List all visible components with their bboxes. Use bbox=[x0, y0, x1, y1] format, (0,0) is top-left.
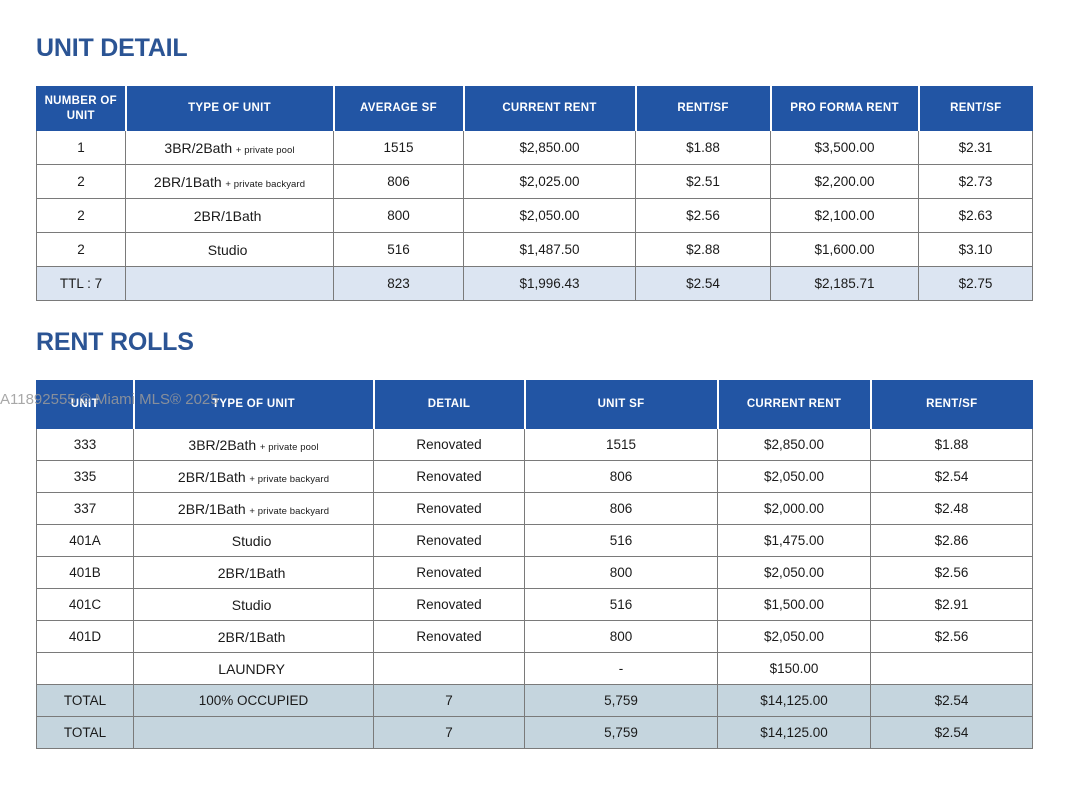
cell-current-rent: $150.00 bbox=[718, 653, 871, 685]
cell-unit: 401B bbox=[37, 557, 134, 589]
table-total-row: TOTAL 100% OCCUPIED 7 5,759 $14,125.00 $… bbox=[37, 685, 1033, 717]
rent-rolls-table: UNIT TYPE OF UNIT DETAIL UNIT SF CURRENT… bbox=[36, 380, 1033, 749]
cell-current-rent: $1,996.43 bbox=[464, 267, 636, 301]
type-main-text: 3BR/2Bath bbox=[188, 437, 256, 453]
type-main-text: 2BR/1Bath bbox=[178, 469, 246, 485]
type-main-text: 3BR/2Bath bbox=[164, 140, 232, 156]
cell-detail: Renovated bbox=[374, 493, 525, 525]
cell-current-rent: $2,850.00 bbox=[464, 131, 636, 165]
type-sub-text: + private pool bbox=[260, 442, 319, 453]
cell-rent-sf: $2.56 bbox=[871, 621, 1033, 653]
rent-rolls-table-body: 333 3BR/2Bath + private pool Renovated 1… bbox=[37, 429, 1033, 749]
cell-number-of-unit: 2 bbox=[37, 165, 126, 199]
cell-type-of-unit: Studio bbox=[134, 525, 374, 557]
rent-rolls-table-header: UNIT TYPE OF UNIT DETAIL UNIT SF CURRENT… bbox=[37, 381, 1033, 429]
column-header-type-of-unit: TYPE OF UNIT bbox=[126, 87, 334, 131]
cell-unit: 335 bbox=[37, 461, 134, 493]
cell-pro-forma-rent-sf: $3.10 bbox=[919, 233, 1033, 267]
cell-average-sf: 823 bbox=[334, 267, 464, 301]
cell-pro-forma-rent: $2,200.00 bbox=[771, 165, 919, 199]
unit-detail-table-header: NUMBER OF UNIT TYPE OF UNIT AVERAGE SF C… bbox=[37, 87, 1033, 131]
cell-current-rent: $2,050.00 bbox=[718, 461, 871, 493]
type-main-text: Studio bbox=[232, 533, 272, 549]
cell-type-of-unit: 2BR/1Bath + private backyard bbox=[134, 461, 374, 493]
cell-detail bbox=[374, 653, 525, 685]
document-page: UNIT DETAIL NUMBER OF UNIT TYPE OF UNIT … bbox=[0, 0, 1069, 801]
cell-rent-sf: $2.54 bbox=[871, 685, 1033, 717]
cell-type-of-unit: 3BR/2Bath + private pool bbox=[126, 131, 334, 165]
cell-unit-sf: 5,759 bbox=[525, 717, 718, 749]
cell-current-rent: $2,850.00 bbox=[718, 429, 871, 461]
cell-pro-forma-rent-sf: $2.73 bbox=[919, 165, 1033, 199]
cell-pro-forma-rent-sf: $2.75 bbox=[919, 267, 1033, 301]
cell-occupancy bbox=[134, 717, 374, 749]
cell-current-rent: $14,125.00 bbox=[718, 685, 871, 717]
type-main-text: 2BR/1Bath bbox=[218, 629, 286, 645]
table-row: 333 3BR/2Bath + private pool Renovated 1… bbox=[37, 429, 1033, 461]
cell-number-of-unit: 2 bbox=[37, 233, 126, 267]
cell-type-of-unit: LAUNDRY bbox=[134, 653, 374, 685]
column-header-unit: UNIT bbox=[37, 381, 134, 429]
cell-unit: 401A bbox=[37, 525, 134, 557]
table-row: 337 2BR/1Bath + private backyard Renovat… bbox=[37, 493, 1033, 525]
type-sub-text: + private backyard bbox=[249, 474, 329, 485]
cell-rent-sf: $2.54 bbox=[871, 717, 1033, 749]
column-header-current-rent: CURRENT RENT bbox=[464, 87, 636, 131]
table-row: LAUNDRY - $150.00 bbox=[37, 653, 1033, 685]
cell-occupancy: 100% OCCUPIED bbox=[134, 685, 374, 717]
cell-current-rent: $2,000.00 bbox=[718, 493, 871, 525]
cell-current-rent: $14,125.00 bbox=[718, 717, 871, 749]
type-main-text: LAUNDRY bbox=[218, 661, 285, 677]
cell-type-of-unit: 3BR/2Bath + private pool bbox=[134, 429, 374, 461]
type-sub-text: + private pool bbox=[236, 145, 295, 156]
cell-rent-sf: $2.48 bbox=[871, 493, 1033, 525]
cell-average-sf: 1515 bbox=[334, 131, 464, 165]
type-main-text: 2BR/1Bath bbox=[218, 565, 286, 581]
cell-unit-sf: 516 bbox=[525, 589, 718, 621]
table-row: 401C Studio Renovated 516 $1,500.00 $2.9… bbox=[37, 589, 1033, 621]
table-row: 401D 2BR/1Bath Renovated 800 $2,050.00 $… bbox=[37, 621, 1033, 653]
cell-average-sf: 516 bbox=[334, 233, 464, 267]
cell-unit: 337 bbox=[37, 493, 134, 525]
cell-unit bbox=[37, 653, 134, 685]
cell-average-sf: 806 bbox=[334, 165, 464, 199]
cell-detail: Renovated bbox=[374, 525, 525, 557]
cell-detail: Renovated bbox=[374, 429, 525, 461]
column-header-current-rent: CURRENT RENT bbox=[718, 381, 871, 429]
column-header-pro-forma-rent-sf: RENT/SF bbox=[919, 87, 1033, 131]
table-total-row: TTL : 7 823 $1,996.43 $2.54 $2,185.71 $2… bbox=[37, 267, 1033, 301]
cell-current-rent: $1,475.00 bbox=[718, 525, 871, 557]
cell-number-of-unit: 1 bbox=[37, 131, 126, 165]
cell-pro-forma-rent-sf: $2.31 bbox=[919, 131, 1033, 165]
table-header-row: UNIT TYPE OF UNIT DETAIL UNIT SF CURRENT… bbox=[37, 381, 1033, 429]
cell-current-rent: $1,487.50 bbox=[464, 233, 636, 267]
type-sub-text: + private backyard bbox=[225, 179, 305, 190]
table-row: 401A Studio Renovated 516 $1,475.00 $2.8… bbox=[37, 525, 1033, 557]
cell-average-sf: 800 bbox=[334, 199, 464, 233]
cell-pro-forma-rent: $1,600.00 bbox=[771, 233, 919, 267]
cell-unit-sf: - bbox=[525, 653, 718, 685]
cell-rent-sf: $1.88 bbox=[636, 131, 771, 165]
cell-type-of-unit: Studio bbox=[134, 589, 374, 621]
cell-rent-sf: $2.88 bbox=[636, 233, 771, 267]
cell-rent-sf: $2.54 bbox=[636, 267, 771, 301]
cell-detail: 7 bbox=[374, 685, 525, 717]
cell-detail: Renovated bbox=[374, 589, 525, 621]
cell-type-of-unit: 2BR/1Bath + private backyard bbox=[134, 493, 374, 525]
cell-type-of-unit: 2BR/1Bath bbox=[134, 557, 374, 589]
cell-unit-sf: 516 bbox=[525, 525, 718, 557]
cell-pro-forma-rent-sf: $2.63 bbox=[919, 199, 1033, 233]
cell-detail: 7 bbox=[374, 717, 525, 749]
type-sub-text: + private backyard bbox=[249, 506, 329, 517]
cell-rent-sf: $2.86 bbox=[871, 525, 1033, 557]
cell-current-rent: $2,025.00 bbox=[464, 165, 636, 199]
cell-unit-sf: 800 bbox=[525, 621, 718, 653]
cell-rent-sf: $2.51 bbox=[636, 165, 771, 199]
column-header-rent-sf: RENT/SF bbox=[636, 87, 771, 131]
table-row: 1 3BR/2Bath + private pool 1515 $2,850.0… bbox=[37, 131, 1033, 165]
table-row: 2 2BR/1Bath + private backyard 806 $2,02… bbox=[37, 165, 1033, 199]
unit-detail-section-title: UNIT DETAIL bbox=[36, 36, 188, 61]
cell-total-label: TOTAL bbox=[37, 717, 134, 749]
cell-type-of-unit: 2BR/1Bath bbox=[134, 621, 374, 653]
unit-detail-table-body: 1 3BR/2Bath + private pool 1515 $2,850.0… bbox=[37, 131, 1033, 301]
cell-rent-sf: $2.56 bbox=[871, 557, 1033, 589]
cell-current-rent: $2,050.00 bbox=[718, 557, 871, 589]
cell-total-label: TTL : 7 bbox=[37, 267, 126, 301]
cell-detail: Renovated bbox=[374, 461, 525, 493]
cell-current-rent: $1,500.00 bbox=[718, 589, 871, 621]
cell-unit: 401D bbox=[37, 621, 134, 653]
cell-detail: Renovated bbox=[374, 557, 525, 589]
cell-current-rent: $2,050.00 bbox=[718, 621, 871, 653]
table-row: 335 2BR/1Bath + private backyard Renovat… bbox=[37, 461, 1033, 493]
column-header-detail: DETAIL bbox=[374, 381, 525, 429]
cell-pro-forma-rent: $3,500.00 bbox=[771, 131, 919, 165]
table-row: 2 2BR/1Bath 800 $2,050.00 $2.56 $2,100.0… bbox=[37, 199, 1033, 233]
cell-pro-forma-rent: $2,185.71 bbox=[771, 267, 919, 301]
table-total-row: TOTAL 7 5,759 $14,125.00 $2.54 bbox=[37, 717, 1033, 749]
cell-type-of-unit bbox=[126, 267, 334, 301]
type-main-text: 2BR/1Bath bbox=[194, 208, 262, 224]
cell-detail: Renovated bbox=[374, 621, 525, 653]
type-main-text: Studio bbox=[232, 597, 272, 613]
cell-unit-sf: 806 bbox=[525, 493, 718, 525]
cell-pro-forma-rent: $2,100.00 bbox=[771, 199, 919, 233]
cell-unit: 333 bbox=[37, 429, 134, 461]
column-header-unit-sf: UNIT SF bbox=[525, 381, 718, 429]
cell-unit-sf: 1515 bbox=[525, 429, 718, 461]
rent-rolls-section-title: RENT ROLLS bbox=[36, 330, 194, 355]
type-main-text: 2BR/1Bath bbox=[154, 174, 222, 190]
cell-rent-sf bbox=[871, 653, 1033, 685]
unit-detail-table: NUMBER OF UNIT TYPE OF UNIT AVERAGE SF C… bbox=[36, 86, 1033, 301]
cell-unit-sf: 800 bbox=[525, 557, 718, 589]
type-main-text: 2BR/1Bath bbox=[178, 501, 246, 517]
column-header-pro-forma-rent: PRO FORMA RENT bbox=[771, 87, 919, 131]
cell-unit: 401C bbox=[37, 589, 134, 621]
table-row: 401B 2BR/1Bath Renovated 800 $2,050.00 $… bbox=[37, 557, 1033, 589]
cell-type-of-unit: 2BR/1Bath bbox=[126, 199, 334, 233]
type-main-text: Studio bbox=[208, 242, 248, 258]
cell-rent-sf: $1.88 bbox=[871, 429, 1033, 461]
column-header-number-of-unit: NUMBER OF UNIT bbox=[37, 87, 126, 131]
column-header-type-of-unit: TYPE OF UNIT bbox=[134, 381, 374, 429]
cell-current-rent: $2,050.00 bbox=[464, 199, 636, 233]
cell-unit-sf: 806 bbox=[525, 461, 718, 493]
table-header-row: NUMBER OF UNIT TYPE OF UNIT AVERAGE SF C… bbox=[37, 87, 1033, 131]
cell-rent-sf: $2.56 bbox=[636, 199, 771, 233]
cell-type-of-unit: 2BR/1Bath + private backyard bbox=[126, 165, 334, 199]
cell-rent-sf: $2.91 bbox=[871, 589, 1033, 621]
cell-type-of-unit: Studio bbox=[126, 233, 334, 267]
column-header-rent-sf: RENT/SF bbox=[871, 381, 1033, 429]
cell-total-label: TOTAL bbox=[37, 685, 134, 717]
cell-number-of-unit: 2 bbox=[37, 199, 126, 233]
table-row: 2 Studio 516 $1,487.50 $2.88 $1,600.00 $… bbox=[37, 233, 1033, 267]
cell-rent-sf: $2.54 bbox=[871, 461, 1033, 493]
cell-unit-sf: 5,759 bbox=[525, 685, 718, 717]
column-header-average-sf: AVERAGE SF bbox=[334, 87, 464, 131]
